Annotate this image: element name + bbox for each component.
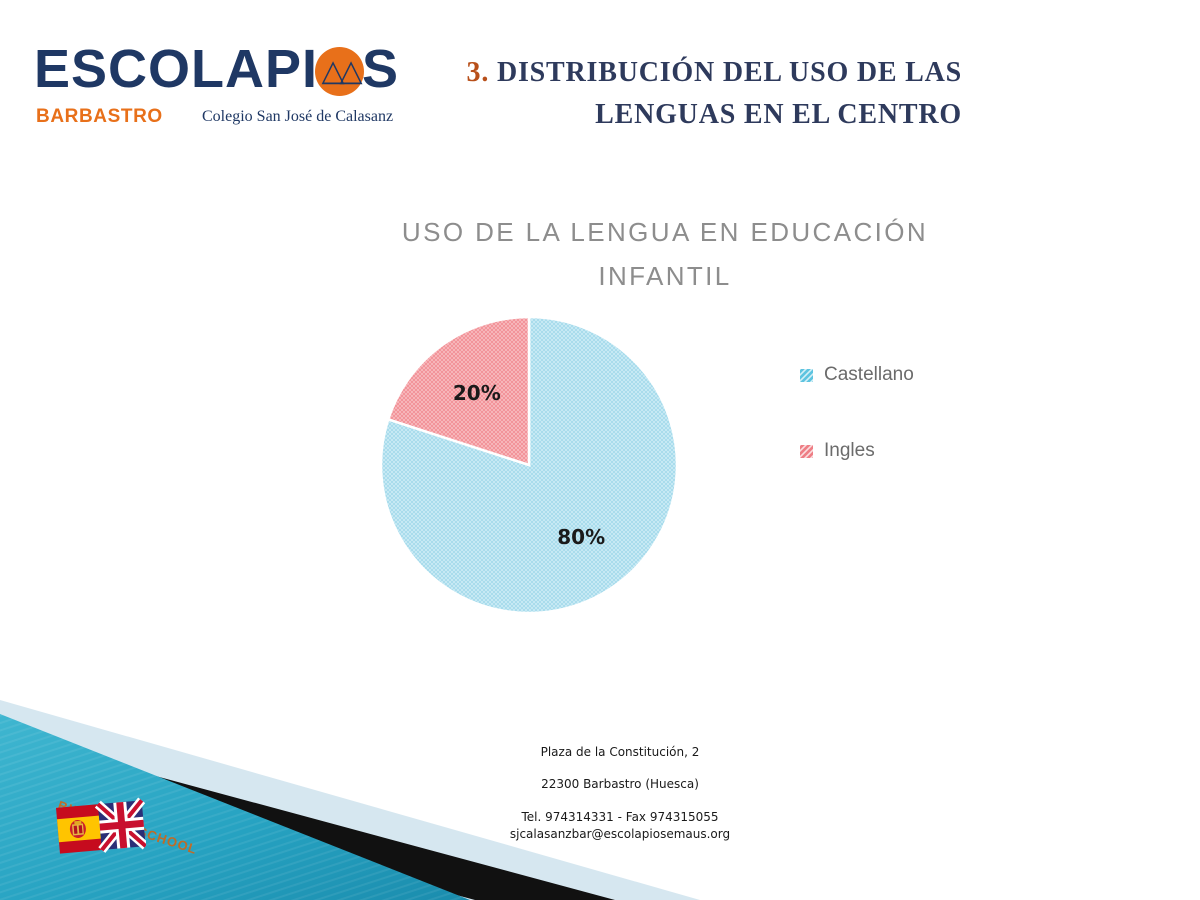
footer-address: Plaza de la Constitución, 2: [420, 745, 820, 759]
chart-legend: Castellano Ingles: [800, 362, 985, 514]
page-title: 3. DISTRIBUCIÓN DEL USO DE LAS LENGUAS E…: [372, 52, 962, 136]
legend-swatch-castellano-icon: [800, 369, 813, 382]
pie-graphic: 20% 80%: [377, 313, 681, 617]
chart-title-line1: USO DE LA LENGUA EN EDUCACIÓN: [385, 210, 945, 254]
spain-flag-icon: [56, 804, 106, 854]
pie-chart: USO DE LA LENGUA EN EDUCACIÓN INFANTIL: [330, 210, 990, 650]
pie-label-ingles: 20%: [453, 381, 501, 405]
legend-item-castellano[interactable]: Castellano: [800, 362, 985, 388]
legend-swatch-ingles-icon: [800, 445, 813, 458]
slide-canvas: ESCOLAPI△△S BARBASTRO Colegio San José d…: [0, 0, 1200, 900]
bilingual-flags-icon: [56, 796, 146, 862]
page-title-line1: DISTRIBUCIÓN DEL USO DE LAS: [497, 57, 962, 88]
legend-label-ingles: Ingles: [824, 440, 875, 462]
legend-label-castellano: Castellano: [824, 364, 914, 386]
page-title-line2: LENGUAS EN EL CENTRO: [595, 99, 962, 130]
chart-title-line2: INFANTIL: [385, 254, 945, 298]
logo-wordmark-pre: ESCOLAPI: [34, 39, 318, 99]
logo-emblem-circle-icon: △△: [315, 47, 364, 96]
footer-email[interactable]: sjcalasanzbar@escolapiosemaus.org: [420, 826, 820, 843]
school-logo: ESCOLAPI△△S BARBASTRO Colegio San José d…: [34, 38, 354, 138]
pie-label-castellano: 80%: [557, 525, 605, 549]
pie-svg: 20% 80%: [377, 313, 681, 617]
uk-flag-icon: [98, 800, 146, 850]
footer-contact-block: Plaza de la Constitución, 2 22300 Barbas…: [420, 745, 820, 843]
footer-city: 22300 Barbastro (Huesca): [420, 777, 820, 791]
legend-item-ingles[interactable]: Ingles: [800, 438, 985, 464]
chart-title: USO DE LA LENGUA EN EDUCACIÓN INFANTIL: [385, 210, 945, 298]
page-title-number: 3.: [467, 57, 490, 88]
logo-location-label: BARBASTRO: [36, 106, 163, 128]
footer-phone: Tel. 974314331 - Fax 974315055: [420, 809, 820, 826]
logo-school-name-label: Colegio San José de Calasanz: [202, 108, 393, 126]
logo-monogram-icon: △△: [315, 56, 364, 86]
logo-wordmark: ESCOLAPI△△S: [34, 38, 354, 100]
